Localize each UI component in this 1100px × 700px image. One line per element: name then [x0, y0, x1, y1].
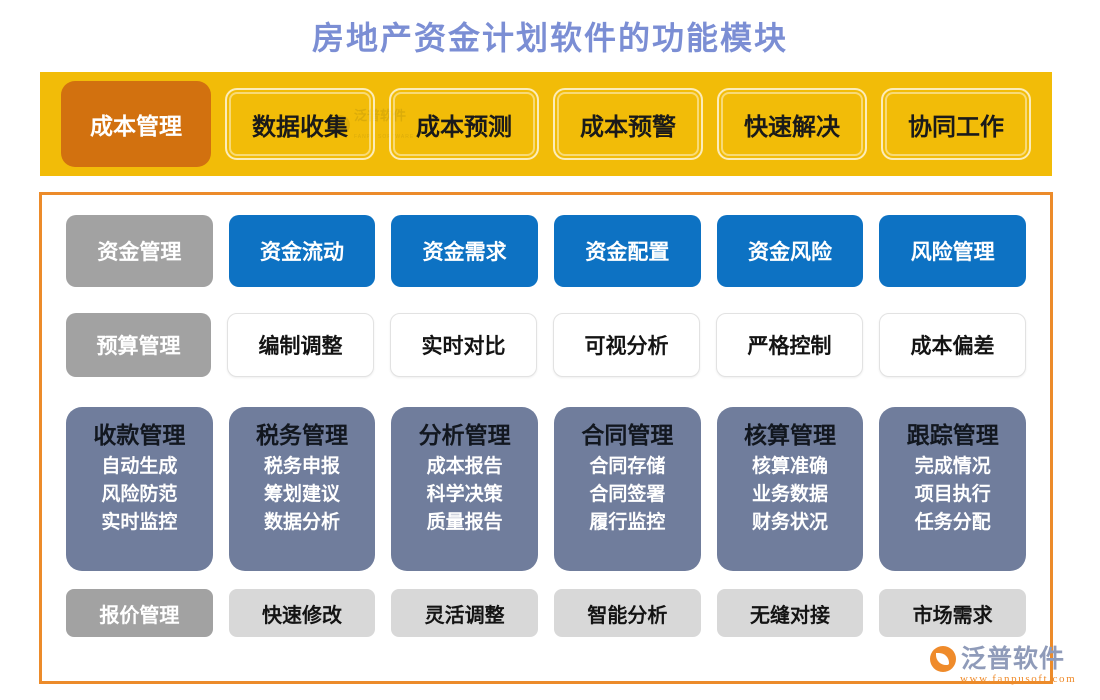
card-sub: 科学决策 [427, 481, 503, 509]
cell-label: 可视分析 [585, 330, 669, 360]
row-budget-item-2[interactable]: 可视分析 [553, 313, 700, 377]
nav-item-label: 成本管理 [90, 107, 182, 141]
row-funds-item-0[interactable]: 资金流动 [229, 215, 376, 287]
nav-item-1[interactable]: 数据收集 [225, 88, 375, 160]
row-label-text: 资金管理 [97, 236, 181, 266]
row-label-text: 预算管理 [97, 330, 181, 360]
card-sub: 项目执行 [915, 481, 991, 509]
cell-label: 资金配置 [585, 236, 669, 266]
page-title: 房地产资金计划软件的功能模块 [0, 18, 1100, 58]
row-quote-item-3[interactable]: 无缝对接 [717, 589, 864, 637]
card-sub: 实时监控 [101, 509, 177, 537]
nav-item-3[interactable]: 成本预警 [553, 88, 703, 160]
cell-label: 成本偏差 [911, 330, 995, 360]
cell-label: 风险管理 [911, 236, 995, 266]
row-budget: 预算管理 编制调整 实时对比 可视分析 严格控制 成本偏差 [58, 313, 1034, 377]
row-budget-item-0[interactable]: 编制调整 [227, 313, 374, 377]
row-funds-item-1[interactable]: 资金需求 [391, 215, 538, 287]
card-sub: 合同存储 [589, 453, 665, 481]
card-sub: 质量报告 [427, 509, 503, 537]
card-sub: 数据分析 [264, 509, 340, 537]
card-sub: 合同签署 [589, 481, 665, 509]
nav-item-label: 协同工作 [908, 107, 1004, 142]
card-title: 跟踪管理 [907, 419, 999, 451]
card-sub: 风险防范 [101, 481, 177, 509]
cell-label: 智能分析 [587, 599, 667, 628]
module-card-0[interactable]: 收款管理 自动生成 风险防范 实时监控 [66, 407, 213, 571]
row-funds-label: 资金管理 [66, 215, 213, 287]
row-funds-item-2[interactable]: 资金配置 [554, 215, 701, 287]
card-sub: 财务状况 [752, 509, 828, 537]
module-card-1[interactable]: 税务管理 税务申报 筹划建议 数据分析 [229, 407, 376, 571]
card-sub: 履行监控 [589, 509, 665, 537]
card-sub: 核算准确 [752, 453, 828, 481]
nav-item-label: 数据收集 [252, 107, 348, 142]
card-sub: 业务数据 [752, 481, 828, 509]
row-funds: 资金管理 资金流动 资金需求 资金配置 资金风险 风险管理 [58, 215, 1034, 287]
nav-item-label: 成本预测 [416, 107, 512, 142]
module-card-5[interactable]: 跟踪管理 完成情况 项目执行 任务分配 [879, 407, 1026, 571]
card-title: 收款管理 [93, 419, 185, 451]
nav-item-label: 快速解决 [744, 107, 840, 142]
nav-item-4[interactable]: 快速解决 [717, 88, 867, 160]
module-panel: 资金管理 资金流动 资金需求 资金配置 资金风险 风险管理 预算管理 编制调整 … [39, 192, 1053, 684]
cell-label: 快速修改 [262, 599, 342, 628]
cell-label: 资金风险 [748, 236, 832, 266]
row-quote-item-4[interactable]: 市场需求 [879, 589, 1026, 637]
card-sub: 税务申报 [264, 453, 340, 481]
row-budget-item-4[interactable]: 成本偏差 [879, 313, 1026, 377]
card-title: 合同管理 [581, 419, 673, 451]
nav-item-5[interactable]: 协同工作 [881, 88, 1031, 160]
row-budget-label: 预算管理 [66, 313, 211, 377]
row-budget-item-1[interactable]: 实时对比 [390, 313, 537, 377]
nav-item-label: 成本预警 [580, 107, 676, 142]
card-sub: 自动生成 [101, 453, 177, 481]
row-quote-label: 报价管理 [66, 589, 213, 637]
row-funds-item-3[interactable]: 资金风险 [717, 215, 864, 287]
cell-label: 严格控制 [748, 330, 832, 360]
card-title: 税务管理 [256, 419, 348, 451]
row-quote: 报价管理 快速修改 灵活调整 智能分析 无缝对接 市场需求 [58, 589, 1034, 637]
card-sub: 成本报告 [427, 453, 503, 481]
cell-label: 灵活调整 [425, 599, 505, 628]
row-label-text: 报价管理 [99, 599, 179, 628]
cell-label: 无缝对接 [750, 599, 830, 628]
card-sub: 完成情况 [915, 453, 991, 481]
cell-label: 市场需求 [913, 599, 993, 628]
card-title: 核算管理 [744, 419, 836, 451]
cell-label: 资金流动 [260, 236, 344, 266]
cell-label: 编制调整 [259, 330, 343, 360]
top-nav-bar: 成本管理 数据收集 成本预测 成本预警 快速解决 协同工作 [40, 72, 1052, 176]
nav-item-2[interactable]: 成本预测 [389, 88, 539, 160]
row-budget-item-3[interactable]: 严格控制 [716, 313, 863, 377]
card-sub: 任务分配 [915, 509, 991, 537]
card-sub: 筹划建议 [264, 481, 340, 509]
row-funds-item-4[interactable]: 风险管理 [879, 215, 1026, 287]
row-quote-item-2[interactable]: 智能分析 [554, 589, 701, 637]
row-quote-item-0[interactable]: 快速修改 [229, 589, 376, 637]
module-card-3[interactable]: 合同管理 合同存储 合同签署 履行监控 [554, 407, 701, 571]
module-card-2[interactable]: 分析管理 成本报告 科学决策 质量报告 [391, 407, 538, 571]
cell-label: 实时对比 [422, 330, 506, 360]
nav-item-0[interactable]: 成本管理 [61, 81, 211, 167]
module-card-4[interactable]: 核算管理 核算准确 业务数据 财务状况 [717, 407, 864, 571]
card-title: 分析管理 [419, 419, 511, 451]
row-quote-item-1[interactable]: 灵活调整 [391, 589, 538, 637]
row-cards: 收款管理 自动生成 风险防范 实时监控 税务管理 税务申报 筹划建议 数据分析 … [58, 407, 1034, 571]
cell-label: 资金需求 [423, 236, 507, 266]
